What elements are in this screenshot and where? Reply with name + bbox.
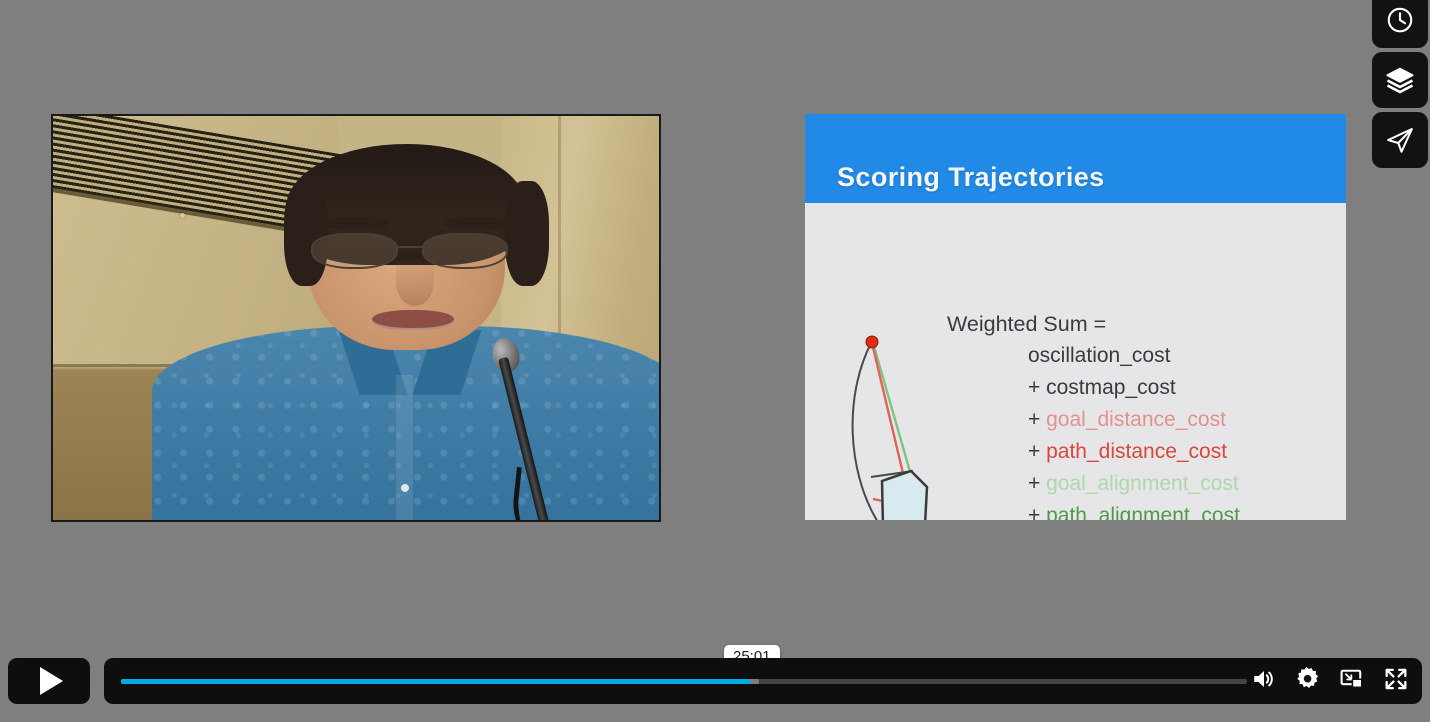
speaker-eyebrow (318, 217, 389, 229)
formula-term-label: goal_distance_cost (1046, 408, 1226, 431)
progress-played (121, 679, 750, 684)
video-stage: Scoring Trajectories Weighted Sum (0, 0, 1430, 722)
formula-term-label: goal_alignment_cost (1046, 472, 1239, 495)
side-tool-rail (1372, 0, 1428, 172)
shirt-button (401, 484, 409, 492)
fullscreen-button[interactable] (1382, 667, 1410, 695)
fullscreen-icon (1383, 666, 1409, 697)
progress-bar[interactable] (121, 679, 1247, 684)
formula-term-goal-distance-cost: + goal_distance_cost (1028, 404, 1337, 436)
weighted-sum-formula: Weighted Sum = oscillation_cost + costma… (947, 308, 1337, 520)
formula-term-label: path_distance_cost (1046, 440, 1227, 463)
history-clock-button[interactable] (1372, 0, 1428, 48)
speaker-eyebrow (444, 217, 515, 229)
robot-footprint (882, 471, 927, 520)
player-right-controls (1250, 658, 1410, 704)
formula-term-path-alignment-cost: + path_alignment_cost (1028, 500, 1337, 520)
send-icon (1385, 125, 1415, 155)
formula-plus: + (1028, 504, 1040, 520)
speaker-hair-side (505, 181, 549, 286)
slide-pane[interactable]: Scoring Trajectories Weighted Sum (805, 114, 1346, 520)
formula-term-costmap-cost: + costmap_cost (1028, 372, 1337, 404)
controls-bar (104, 658, 1422, 704)
layers-button[interactable] (1372, 52, 1428, 108)
video-player-controls (0, 640, 1430, 722)
glasses-lens-right (422, 233, 509, 269)
formula-plus: + (1028, 408, 1040, 431)
glasses-bridge (396, 246, 424, 248)
volume-icon (1251, 666, 1277, 697)
slide-body: Weighted Sum = oscillation_cost + costma… (805, 203, 1346, 520)
shirt-placket (396, 375, 413, 520)
slide-header: Scoring Trajectories (805, 114, 1346, 205)
play-icon (40, 667, 63, 695)
formula-term-label: path_alignment_cost (1046, 504, 1240, 520)
layers-icon (1385, 65, 1415, 95)
trajectory-diagram (827, 321, 967, 520)
formula-heading: Weighted Sum = (947, 308, 1337, 340)
speaker-mouth (372, 310, 453, 330)
formula-plus: + (1028, 376, 1040, 399)
picture-in-picture-icon (1339, 666, 1365, 697)
goal-marker (866, 336, 878, 348)
formula-plus: + (1028, 440, 1040, 463)
settings-button[interactable] (1294, 667, 1322, 695)
formula-term-path-distance-cost: + path_distance_cost (1028, 436, 1337, 468)
play-button[interactable] (8, 658, 90, 704)
microphone-cable (507, 467, 581, 522)
speaker-nose (396, 257, 433, 305)
formula-term-label: oscillation_cost (1028, 344, 1170, 367)
speaker-person (247, 148, 586, 522)
formula-plus: + (1028, 472, 1040, 495)
volume-button[interactable] (1250, 667, 1278, 695)
send-button[interactable] (1372, 112, 1428, 168)
clock-icon (1385, 5, 1415, 35)
formula-term-oscillation-cost: oscillation_cost (1028, 340, 1337, 372)
formula-term-label: costmap_cost (1046, 376, 1176, 399)
path-alignment-line (873, 343, 911, 485)
formula-term-goal-alignment-cost: + goal_alignment_cost (1028, 468, 1337, 500)
slide-title: Scoring Trajectories (837, 162, 1105, 193)
glasses-lens-left (311, 233, 398, 269)
settings-gear-icon (1295, 666, 1321, 697)
speaker-video-pane[interactable] (51, 114, 661, 522)
picture-in-picture-button[interactable] (1338, 667, 1366, 695)
